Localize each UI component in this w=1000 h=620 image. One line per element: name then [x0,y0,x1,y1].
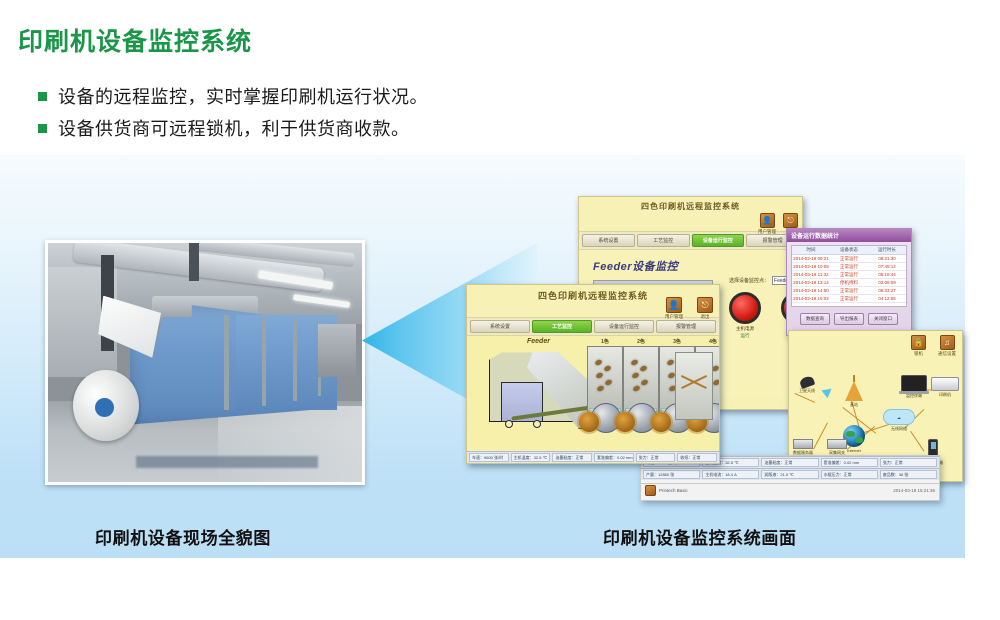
node-server-a[interactable]: 数据服务器 [793,439,813,456]
caster-wheel-icon [533,420,541,428]
toolbar-item-lock[interactable]: 🔒 锁机 [911,335,926,357]
status-cell: 废品数：36 张 [880,470,937,479]
footer-bar: Printech Basic 2014-03-18 15:21:36 [641,483,939,497]
antenna-tower-icon [845,381,863,401]
toolbar-label: 用户管理 [665,314,683,320]
photo-floor-reflection [218,406,362,482]
cell: 正常运行 [830,271,868,278]
process-monitor-window[interactable]: 四色印刷机远程监控系统 👤 用户管理 ⎋ 退出 系统设置 工艺监控 设备运行监控… [466,284,720,464]
press-site-photo [45,240,365,485]
status-cell: 收纸：正常 [677,453,717,462]
status-cell: 主机电流：18.4 A [702,470,759,479]
tab-process-monitor[interactable]: 工艺监控 [637,234,690,247]
flow-arrow-icon [821,385,834,398]
node-laptop[interactable]: 监控终端 [901,375,927,399]
cell: 06:18:44 [868,271,906,278]
bullet-list: 设备的远程监控，实时掌握印刷机运行状况。 设备供货商可远程锁机，利于供货商收款。 [38,80,428,144]
node-label: Internet [847,448,861,453]
drive-gear-icon [651,412,671,432]
node-dish[interactable]: 卫星天线 [799,377,815,394]
tab-system-settings[interactable]: 系统设置 [582,234,635,247]
slide-root: 印刷机设备监控系统 设备的远程监控，实时掌握印刷机运行状况。 设备供货商可远程锁… [0,0,1000,620]
square-bullet-icon [38,92,47,101]
status-cell: 张力：正常 [636,453,676,462]
exit-icon: ⎋ [783,213,798,228]
section-title: Feeder设备监控 [593,258,678,274]
cell: 2014-03-18 11:32 [792,271,830,278]
close-button[interactable]: 关闭窗口 [868,313,898,325]
export-button[interactable]: 导出报表 [834,313,864,325]
toolbar-item-exit[interactable]: ⎋ 退出 [697,297,713,320]
table-row[interactable]: 2014-03-18 14:50 正常运行 05:33:27 [792,287,906,295]
user-icon: 👤 [760,213,775,228]
tab-alarms[interactable]: 报警管理 [656,320,716,333]
lock-icon: 🔒 [911,335,926,350]
status-cell: 车速：9600 张/时 [469,453,509,462]
status-cell: 油墨粘度：正常 [552,453,592,462]
cell: 2014-03-18 10:05 [792,263,830,270]
table-row[interactable]: 2014-03-18 09:21 正常运行 08:21:30 [792,255,906,263]
status-cell: 套准偏差：0.02 mm [821,458,878,467]
caption-right: 印刷机设备监控系统画面 [603,524,797,549]
laptop-icon [901,375,927,392]
photo-unit-gap [293,319,297,400]
front-toolbar: 👤 用户管理 ⎋ 退出 [665,297,713,320]
drive-gear-icon [579,412,599,432]
server-icon [793,439,813,449]
cell: 02:06:09 [868,279,906,286]
bell-icon: ♫ [940,335,955,350]
photo-shadow [136,456,318,468]
square-bullet-icon [38,124,47,133]
status-cell: 套准偏差：0.02 mm [594,453,634,462]
status-row: 车速：9600 张/时 主机温度：32.5 ℃ 油墨粘度：正常 套准偏差：0.0… [467,451,719,463]
table-header-row: 时间 设备状态 运行时长 [792,246,906,255]
node-label: 无线网络 [891,426,907,432]
cell: 2014-03-18 09:21 [792,255,830,262]
status-row: 产量：12860 张 主机电流：18.4 A 润版液：21.0 ℃ 水辊压力：正… [641,468,939,480]
node-tower[interactable]: 基站 [845,381,863,408]
app-logo-icon [645,485,656,496]
cell: 07:45:12 [868,263,906,270]
drive-gear-icon [615,412,635,432]
satellite-dish-icon [799,375,816,389]
color-unit-1[interactable]: 1色 [587,346,623,422]
status-cell: 油墨粘度：正常 [761,458,818,467]
lamp-label: 主机电源 [736,326,754,332]
select-label: 选择设备监控点： [729,277,769,284]
dialog-title: 设备运行数据统计 [787,229,911,242]
caption-left: 印刷机设备现场全貌图 [95,524,271,549]
status-row: 产量：12860 张 主机电流：18.4 A 润版液：21.0 ℃ 水辊压力：正… [467,463,719,464]
toolbar-label: 锁机 [914,351,923,357]
color-unit-2[interactable]: 2色 [623,346,659,422]
cell: 2014-03-18 13:14 [792,279,830,286]
column-header: 设备状态 [830,246,868,254]
tab-system-settings[interactable]: 系统设置 [470,320,530,333]
caster-wheel-icon [505,420,513,428]
server-icon [827,439,847,449]
toolbar-label: 通信设置 [938,351,956,357]
status-cell: 张力：正常 [880,458,937,467]
link-line [795,393,816,403]
photo-beam-secondary [189,243,198,281]
network-toolbar: 🔒 锁机 ♫ 通信设置 [911,335,956,357]
toolbar-label: 退出 [701,314,710,320]
table-row[interactable]: 2014-03-18 16:02 正常运行 04:12:55 [792,295,906,303]
list-item: 设备的远程监控，实时掌握印刷机运行状况。 [38,80,428,112]
lamp-item[interactable]: 主机电源 运行 [729,292,761,339]
cell: 04:12:55 [868,295,906,302]
cell: 2014-03-18 16:02 [792,295,830,302]
column-header: 运行时长 [868,246,906,254]
query-button[interactable]: 数据查询 [800,313,830,325]
table-row[interactable]: 2014-03-18 13:14 停机待料 02:06:09 [792,279,906,287]
ink-train [629,359,651,393]
toolbar-item-user[interactable]: 👤 用户管理 [665,297,683,320]
page-title: 印刷机设备监控系统 [18,22,252,58]
toolbar-label: 用户管理 [758,229,776,235]
status-cell: 水辊压力：正常 [821,470,878,479]
cell: 05:33:27 [868,287,906,294]
user-icon: 👤 [666,297,682,313]
list-item: 设备供货商可远程锁机，利于供货商收款。 [38,112,428,144]
status-cell: 润版液：21.0 ℃ [761,470,818,479]
node-label: 基站 [850,402,858,408]
bullet-text: 设备供货商可远程锁机，利于供货商收款。 [58,115,410,141]
status-cell: 产量：12860 张 [643,470,700,479]
cell: 正常运行 [830,255,868,262]
node-label: 卫星天线 [799,388,815,394]
unit-label: 4色 [696,338,720,345]
table-row[interactable]: 2014-03-18 10:05 正常运行 07:45:12 [792,263,906,271]
lamp-state: 运行 [741,333,750,339]
cell: 2014-03-18 14:50 [792,287,830,294]
node-cloud[interactable]: ☁ 无线网络 [883,409,915,432]
tab-process-monitor[interactable]: 工艺监控 [532,320,592,333]
tab-device-monitor[interactable]: 设备运行监控 [594,320,654,333]
cell: 正常运行 [830,295,868,302]
node-server-b[interactable]: 采集网关 [827,439,847,456]
press-process-diagram: Feeder 1色 2色 [467,336,719,451]
cell: 正常运行 [830,263,868,270]
unit-label: 1色 [588,338,622,345]
node-printer[interactable]: 印刷机 [931,377,959,398]
photo-background-machine [318,324,356,377]
dialog-buttons: 数据查询 导出报表 关闭窗口 [787,313,911,325]
unit-label: 3色 [660,338,694,345]
photo-unit-gap [262,317,266,405]
cell: 正常运行 [830,287,868,294]
table-row[interactable]: 2014-03-18 11:32 正常运行 06:18:44 [792,271,906,279]
status-cell: 主机温度：32.5 ℃ [511,453,551,462]
link-line [813,423,828,450]
data-statistics-dialog[interactable]: 设备运行数据统计 时间 设备状态 运行时长 2014-03-18 09:21 正… [786,228,912,336]
cloud-icon: ☁ [883,409,915,425]
delivery-unit[interactable] [675,352,713,420]
printer-icon [931,377,959,391]
column-header: 时间 [792,246,830,254]
exit-icon: ⎋ [697,297,713,313]
status-lamp-icon [729,292,761,324]
brand-label: Printech Basic [659,488,688,493]
timestamp: 2014-03-18 15:21:36 [893,488,935,493]
feeder-label: Feeder [527,338,550,345]
toolbar-item-user[interactable]: 👤 用户管理 [758,213,776,235]
photo-unit-gap [224,315,229,411]
ink-train [593,359,615,393]
cell: 停机待料 [830,279,868,286]
tab-device-monitor[interactable]: 设备运行监控 [692,234,745,247]
unit-label: 2色 [624,338,658,345]
bullet-text: 设备的远程监控，实时掌握印刷机运行状况。 [58,83,428,109]
cell: 08:21:30 [868,255,906,262]
node-label: 印刷机 [939,392,951,398]
toolbar-item-comm[interactable]: ♫ 通信设置 [938,335,956,357]
data-table[interactable]: 时间 设备状态 运行时长 2014-03-18 09:21 正常运行 08:21… [791,245,907,307]
